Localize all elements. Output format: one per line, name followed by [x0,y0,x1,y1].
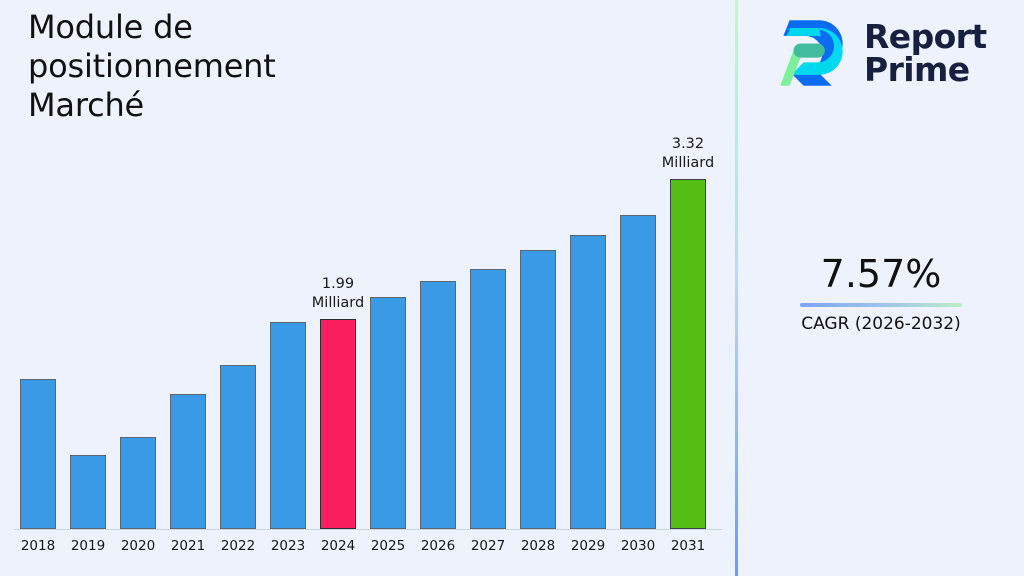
cagr-block: 7.57% CAGR (2026-2032) [738,252,1024,335]
cagr-value: 7.57% [738,252,1024,296]
x-tick-2030: 2030 [611,538,665,554]
x-tick-2026: 2026 [411,538,465,554]
x-tick-2027: 2027 [461,538,515,554]
brand-panel: Report Prime 7.57% CAGR (2026-2032) [738,0,1024,576]
x-tick-2028: 2028 [511,538,565,554]
bar-2020[interactable] [120,437,156,529]
x-axis-line [14,529,722,530]
logo-wordmark: Report Prime [864,20,987,86]
x-tick-2025: 2025 [361,538,415,554]
cagr-label: CAGR (2026-2032) [738,313,1024,335]
bar-2019[interactable] [70,455,106,529]
chart-panel: Module de positionnement Marché 20182019… [0,0,736,576]
bar-2022[interactable] [220,365,256,529]
bar-2028[interactable] [520,250,556,529]
report-prime-logo-mark [774,14,852,92]
bar-value-label-2031: 3.32 Milliard [643,135,733,173]
cagr-divider [800,303,962,307]
bar-2018[interactable] [20,379,56,529]
x-tick-2019: 2019 [61,538,115,554]
x-tick-2020: 2020 [111,538,165,554]
bar-2031[interactable] [670,179,706,529]
x-tick-2022: 2022 [211,538,265,554]
bar-chart-plot: 20182019202020212022202320241.99 Milliar… [0,0,736,576]
bar-2030[interactable] [620,215,656,529]
bar-2023[interactable] [270,322,306,529]
report-prime-logo: Report Prime [774,14,987,92]
x-tick-2018: 2018 [11,538,65,554]
x-tick-2023: 2023 [261,538,315,554]
bar-2024[interactable] [320,319,356,529]
x-tick-2024: 2024 [311,538,365,554]
bar-2029[interactable] [570,235,606,529]
x-tick-2021: 2021 [161,538,215,554]
bar-2026[interactable] [420,281,456,529]
x-tick-2029: 2029 [561,538,615,554]
x-tick-2031: 2031 [661,538,715,554]
bar-2025[interactable] [370,297,406,529]
bar-2021[interactable] [170,394,206,529]
bar-2027[interactable] [470,269,506,529]
